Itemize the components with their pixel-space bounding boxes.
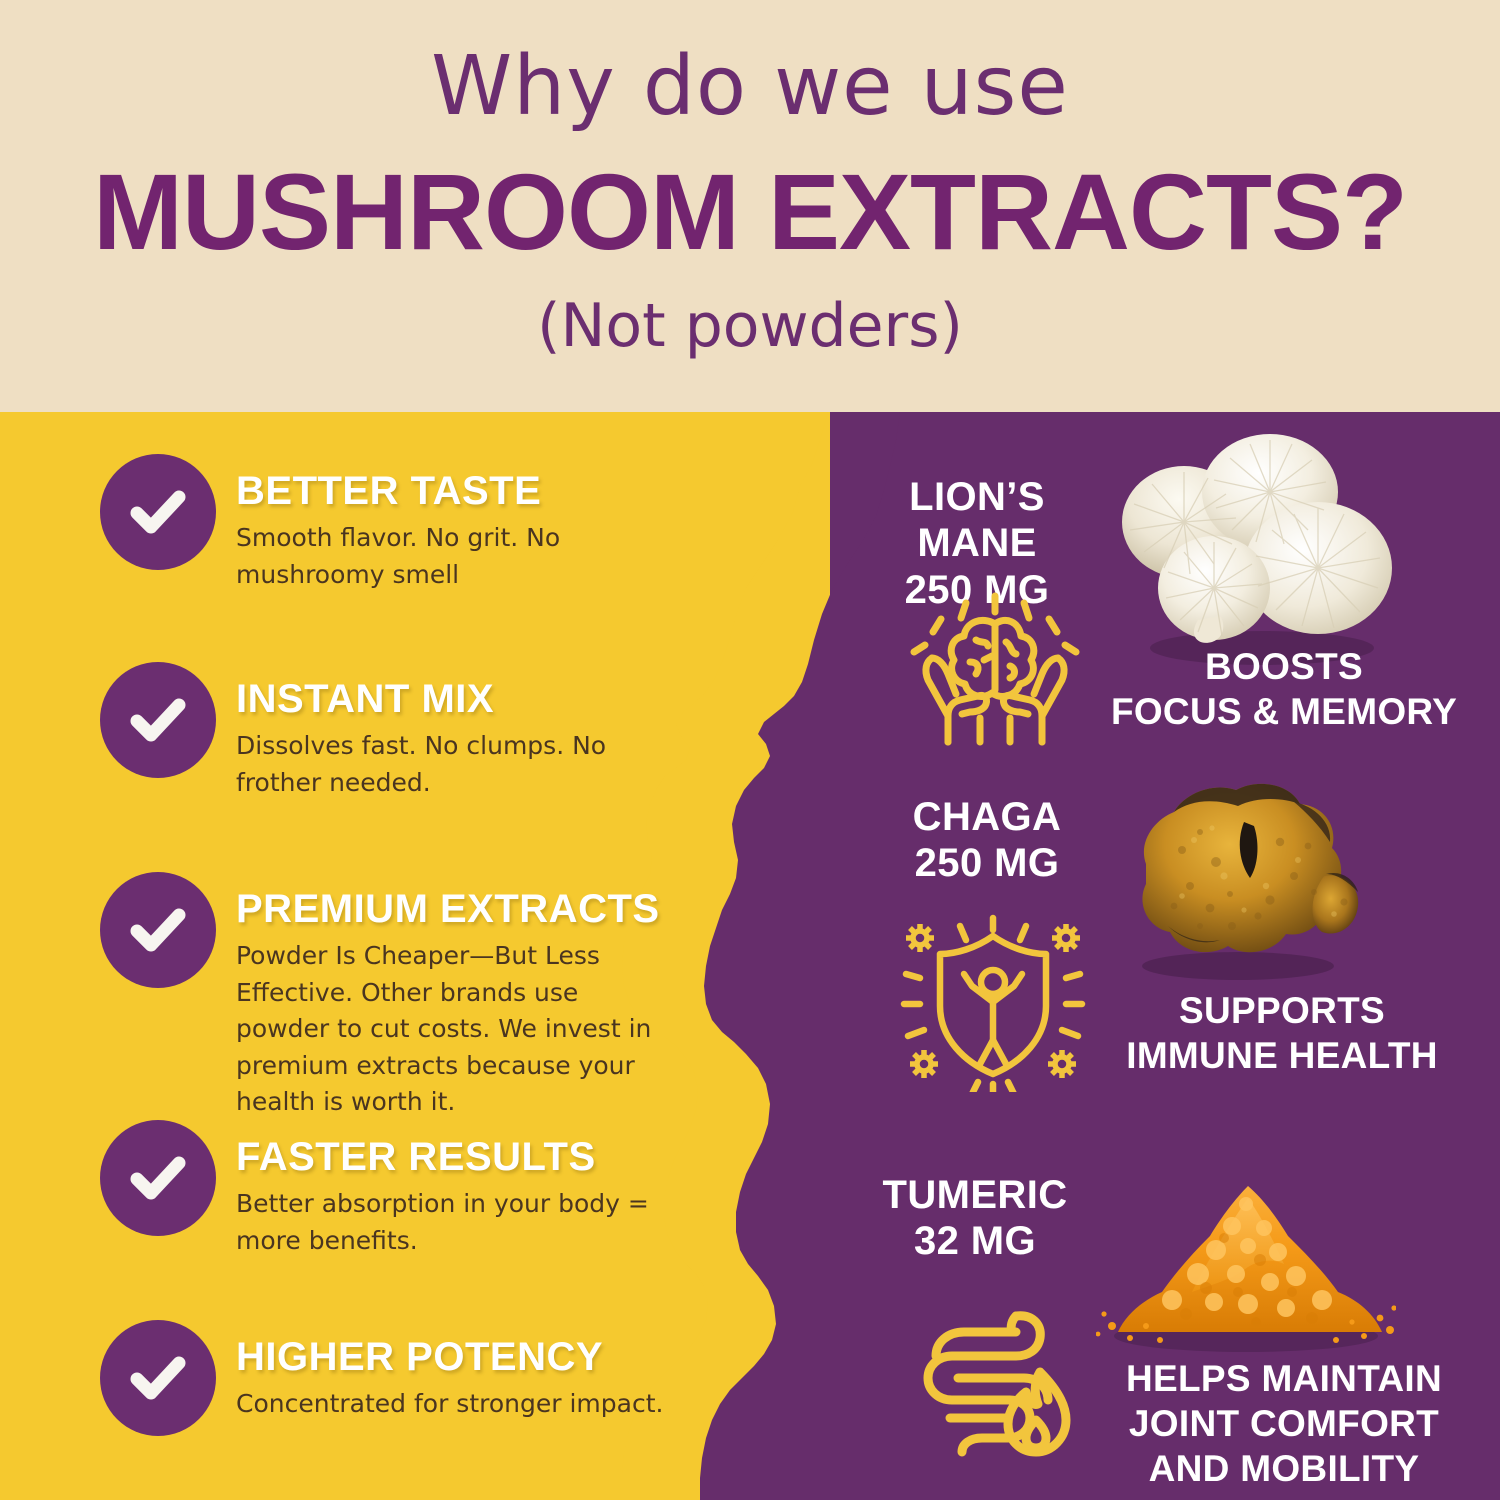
ingredient-dose: 32 MG bbox=[850, 1218, 1100, 1264]
header-subtitle: (Not powders) bbox=[537, 293, 963, 359]
check-icon bbox=[100, 1120, 216, 1236]
benefits-list: BETTER TASTE Smooth flavor. No grit. No … bbox=[0, 412, 700, 1500]
check-icon bbox=[100, 662, 216, 778]
benefit-description: Powder Is Cheaper—But Less Effective. Ot… bbox=[236, 938, 668, 1121]
benefit-item-premium-extracts[interactable]: PREMIUM EXTRACTS Powder Is Cheaper—But L… bbox=[100, 872, 668, 1121]
header-line-1: Why do we use bbox=[431, 44, 1069, 130]
ingredient-benefit-text: HELPS MAINTAIN JOINT COMFORT AND MOBILIT… bbox=[1074, 1356, 1494, 1491]
benefit-title: PREMIUM EXTRACTS bbox=[236, 888, 668, 930]
benefit-description: Concentrated for stronger impact. bbox=[236, 1386, 663, 1423]
header-banner: Why do we use MUSHROOM EXTRACTS? (Not po… bbox=[0, 0, 1500, 412]
ingredient-benefit-line-2: FOCUS & MEMORY bbox=[1078, 689, 1490, 734]
benefit-title: INSTANT MIX bbox=[236, 678, 656, 720]
benefit-title: FASTER RESULTS bbox=[236, 1136, 656, 1178]
ingredient-benefit-line-2: JOINT COMFORT bbox=[1074, 1401, 1494, 1446]
check-icon bbox=[100, 872, 216, 988]
ingredient-dose: 250 MG bbox=[862, 840, 1112, 886]
ingredient-benefit-text: SUPPORTS IMMUNE HEALTH bbox=[1072, 988, 1492, 1078]
ingredient-name: TUMERIC bbox=[850, 1172, 1100, 1218]
gut-flame-icon bbox=[904, 1300, 1084, 1465]
ingredient-name: LION’S MANE bbox=[852, 474, 1102, 567]
brain-in-hands-icon bbox=[910, 590, 1080, 755]
benefit-description: Smooth flavor. No grit. No mushroomy sme… bbox=[236, 520, 656, 593]
ingredient-benefit-line-1: SUPPORTS bbox=[1072, 988, 1492, 1033]
benefit-item-better-taste[interactable]: BETTER TASTE Smooth flavor. No grit. No … bbox=[100, 454, 656, 593]
ingredients-list: LION’S MANE 250 MG bbox=[830, 412, 1500, 1500]
turmeric-powder-photo bbox=[1096, 1142, 1396, 1367]
lions-mane-mushroom-photo bbox=[1102, 430, 1402, 675]
benefit-description: Dissolves fast. No clumps. No frother ne… bbox=[236, 728, 656, 801]
check-icon bbox=[100, 454, 216, 570]
benefit-item-instant-mix[interactable]: INSTANT MIX Dissolves fast. No clumps. N… bbox=[100, 662, 656, 801]
shield-immunity-icon bbox=[898, 912, 1088, 1097]
ingredient-benefit-line-2: IMMUNE HEALTH bbox=[1072, 1033, 1492, 1078]
check-icon bbox=[100, 1320, 216, 1436]
benefit-description: Better absorption in your body = more be… bbox=[236, 1186, 656, 1259]
benefit-item-faster-results[interactable]: FASTER RESULTS Better absorption in your… bbox=[100, 1120, 656, 1259]
ingredient-name: CHAGA bbox=[862, 794, 1112, 840]
page-title: MUSHROOM EXTRACTS? bbox=[93, 152, 1407, 273]
ingredient-benefit-line-3: AND MOBILITY bbox=[1074, 1446, 1494, 1491]
chaga-mushroom-photo bbox=[1108, 768, 1378, 993]
ingredient-benefit-text: BOOSTS FOCUS & MEMORY bbox=[1078, 644, 1490, 734]
ingredient-benefit-line-1: BOOSTS bbox=[1078, 644, 1490, 689]
ingredient-name-block: CHAGA 250 MG bbox=[862, 794, 1112, 887]
benefit-title: HIGHER POTENCY bbox=[236, 1336, 663, 1378]
ingredient-name-block: TUMERIC 32 MG bbox=[850, 1172, 1100, 1265]
ingredient-benefit-line-1: HELPS MAINTAIN bbox=[1074, 1356, 1494, 1401]
benefit-title: BETTER TASTE bbox=[236, 470, 656, 512]
benefit-item-higher-potency[interactable]: HIGHER POTENCY Concentrated for stronger… bbox=[100, 1320, 663, 1436]
